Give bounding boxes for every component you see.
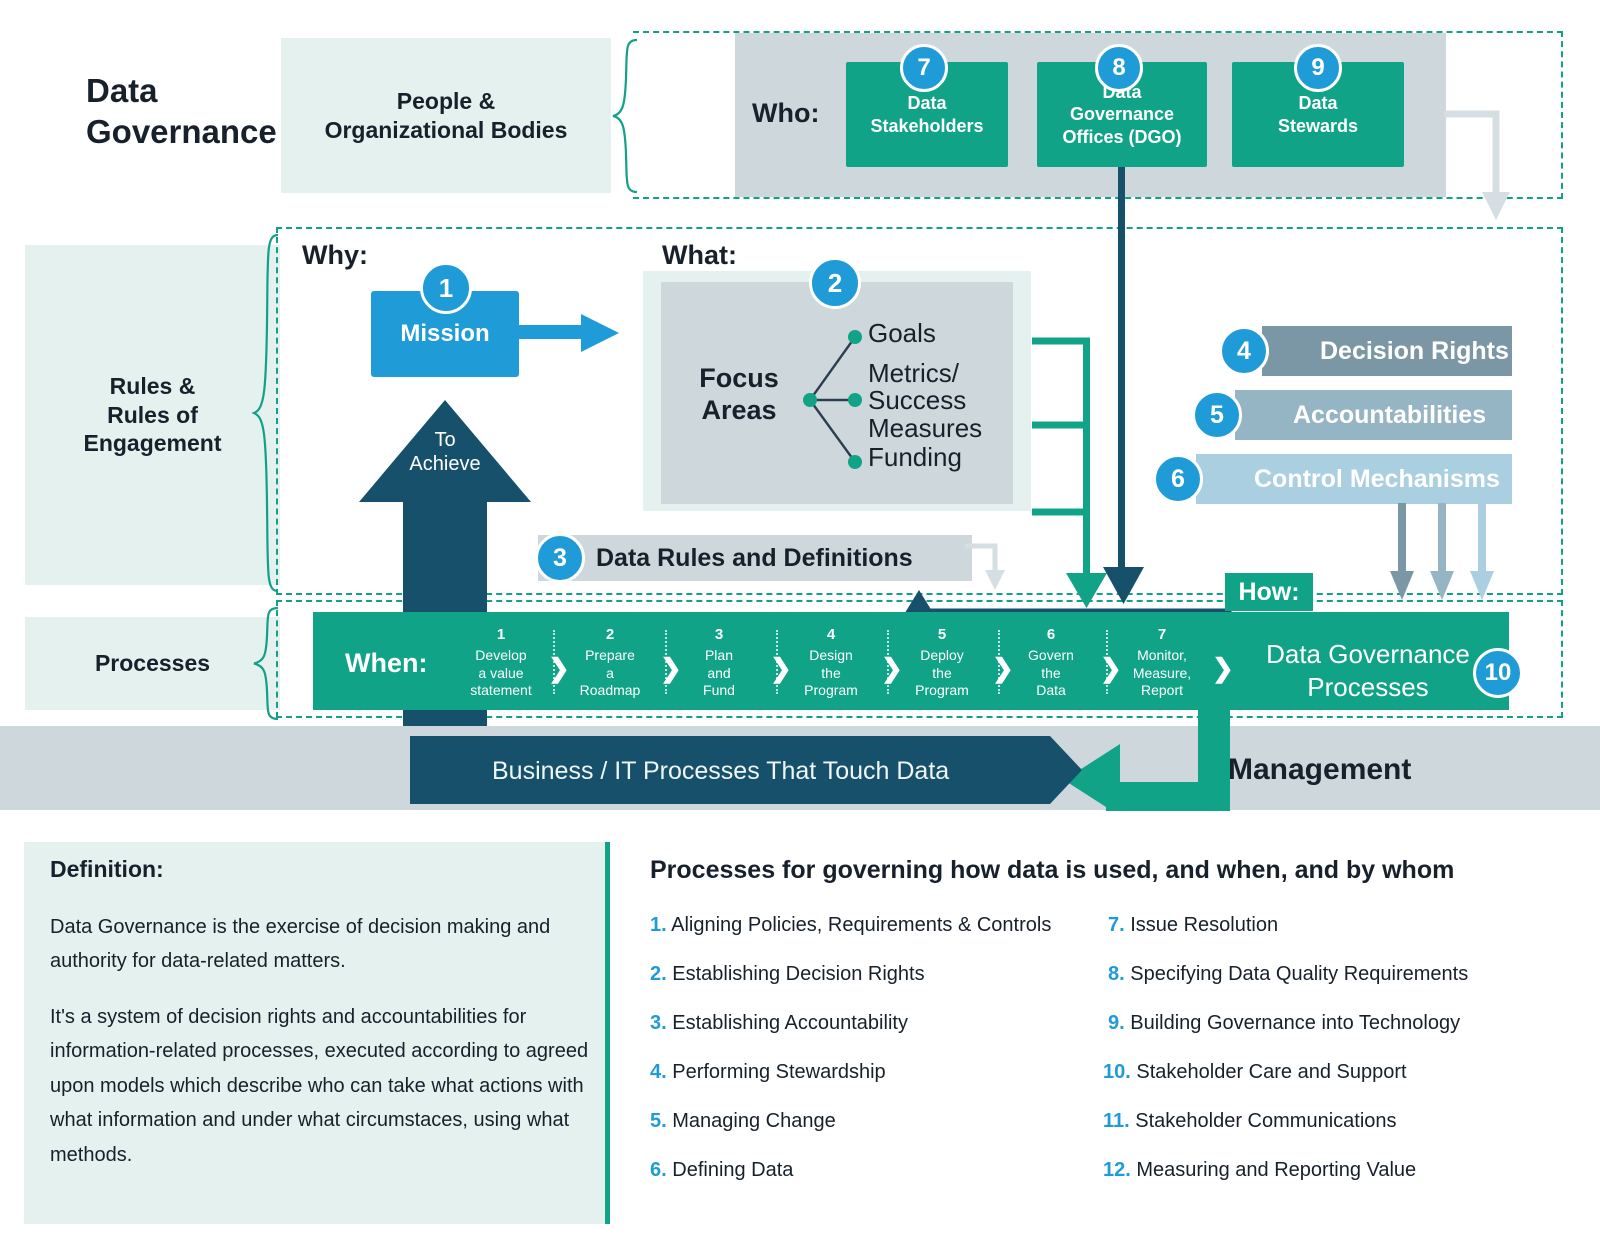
process-item-number: 11.	[1103, 1110, 1130, 1132]
to-achieve-text: To Achieve	[409, 429, 480, 475]
process-item-1: 1. Aligning Policies, Requirements & Con…	[650, 914, 1051, 937]
chevron-1-icon: ❯	[548, 655, 570, 681]
process-item-label: Issue Resolution	[1130, 914, 1278, 936]
when-step-4[interactable]: 4 Design the Program	[790, 632, 872, 694]
process-item-7: 7. Issue Resolution	[1108, 914, 1278, 937]
step-number: 1	[497, 626, 505, 645]
data-rules-label: Data Rules and Definitions	[596, 544, 913, 573]
process-item-6: 6. Defining Data	[650, 1159, 793, 1182]
stacked-bar-control-mechanisms[interactable]: Control Mechanisms	[1196, 454, 1512, 504]
step-separator	[998, 630, 1000, 694]
arrow-dgo-to-processes	[1100, 167, 1148, 607]
when-step-5[interactable]: 5 Deploy the Program	[901, 632, 983, 694]
definition-title-text: Definition:	[50, 856, 164, 882]
process-item-label: Performing Stewardship	[672, 1061, 885, 1083]
step-separator	[665, 630, 667, 694]
definition-title: Definition:	[50, 856, 164, 883]
definition-paragraph-text: It's a system of decision rights and acc…	[50, 1006, 588, 1166]
process-item-number: 7.	[1108, 914, 1125, 936]
step-label: Design the Program	[804, 647, 858, 700]
badge-6: 6	[1153, 454, 1203, 504]
process-item-label: Establishing Accountability	[672, 1012, 908, 1034]
when-step-6[interactable]: 6 Govern the Data	[1013, 632, 1089, 694]
badge-number: 2	[828, 268, 842, 299]
step-separator	[553, 630, 555, 694]
step-label: Deploy the Program	[915, 647, 969, 700]
process-item-number: 12.	[1103, 1159, 1131, 1181]
process-item-12: 12. Measuring and Reporting Value	[1103, 1159, 1416, 1182]
badge-9: 9	[1294, 44, 1342, 92]
process-item-number: 2.	[650, 963, 667, 985]
badge-number: 8	[1112, 54, 1125, 82]
what-label: What:	[662, 240, 737, 271]
step-number: 3	[715, 626, 723, 645]
category-processes-panel: Processes	[25, 617, 280, 710]
management-text: Management	[1228, 753, 1411, 786]
step-label: Plan and Fund	[703, 647, 735, 700]
process-item-10: 10. Stakeholder Care and Support	[1103, 1061, 1407, 1084]
badge-10: 10	[1473, 648, 1523, 698]
badge-4: 4	[1219, 326, 1269, 376]
step-number: 2	[606, 626, 614, 645]
badge-3: 3	[535, 533, 585, 583]
definition-paragraph-1: Data Governance is the exercise of decis…	[50, 910, 590, 979]
process-item-label: Stakeholder Care and Support	[1136, 1061, 1406, 1083]
category-rules-panel: Rules & Rules of Engagement	[25, 245, 280, 585]
category-people-panel: People & Organizational Bodies	[281, 38, 611, 193]
step-label: Prepare a Roadmap	[580, 647, 641, 700]
badge-1: 1	[420, 262, 472, 314]
process-item-label: Stakeholder Communications	[1135, 1110, 1396, 1132]
process-item-4: 4. Performing Stewardship	[650, 1061, 886, 1084]
process-item-label: Aligning Policies, Requirements & Contro…	[671, 914, 1051, 936]
focus-to-processes-connector	[1028, 325, 1108, 610]
badge-number: 9	[1311, 54, 1324, 82]
process-item-11: 11. Stakeholder Communications	[1103, 1110, 1397, 1133]
step-number: 7	[1158, 626, 1166, 645]
focus-item-funding: Funding	[868, 444, 962, 471]
step-number: 5	[938, 626, 946, 645]
process-item-number: 4.	[650, 1061, 667, 1083]
badge-8: 8	[1095, 44, 1143, 92]
chevron-3-icon: ❯	[770, 655, 792, 681]
badge-2: 2	[809, 257, 861, 309]
arrows-stacked-to-processes	[1390, 503, 1520, 603]
page-title-text: Data Governance	[86, 72, 277, 150]
process-item-number: 6.	[650, 1159, 667, 1181]
process-item-label: Defining Data	[672, 1159, 793, 1181]
when-step-2[interactable]: 2 Prepare a Roadmap	[570, 632, 650, 694]
stacked-bar-label: Decision Rights	[1320, 337, 1509, 366]
business-processes-text: Business / IT Processes That Touch Data	[492, 757, 949, 785]
step-number: 6	[1047, 626, 1055, 645]
focus-connector-lines	[800, 325, 870, 475]
badge-number: 10	[1485, 659, 1512, 687]
badge-number: 1	[439, 273, 453, 304]
stacked-bar-decision-rights[interactable]: Decision Rights	[1262, 326, 1512, 376]
management-label: Management	[1228, 753, 1411, 787]
category-people-label: People & Organizational Bodies	[325, 87, 568, 145]
focus-item-goals: Goals	[868, 320, 936, 347]
focus-areas-label: Focus Areas	[679, 362, 799, 427]
why-label-text: Why:	[302, 240, 368, 270]
to-achieve-label: To Achieve	[385, 428, 505, 476]
who-box-label: Data Stakeholders	[870, 92, 983, 137]
focus-item-label: Metrics/ Success Measures	[868, 358, 982, 443]
focus-item-metrics: Metrics/ Success Measures	[868, 360, 982, 442]
process-item-label: Establishing Decision Rights	[672, 963, 924, 985]
badge-number: 6	[1171, 465, 1185, 494]
process-item-9: 9. Building Governance into Technology	[1108, 1012, 1460, 1035]
process-item-3: 3. Establishing Accountability	[650, 1012, 908, 1035]
category-rules-label: Rules & Rules of Engagement	[83, 372, 221, 458]
badge-number: 4	[1237, 337, 1251, 366]
data-rules-bar[interactable]: Data Rules and Definitions	[538, 535, 972, 581]
how-label-text: How:	[1238, 578, 1299, 607]
who-box-label: Data Stewards	[1278, 92, 1358, 137]
badge-5: 5	[1192, 390, 1242, 440]
process-item-8: 8. Specifying Data Quality Requirements	[1108, 963, 1468, 986]
badge-number: 3	[553, 544, 567, 573]
how-label: How:	[1225, 573, 1313, 611]
processes-list-title: Processes for governing how data is used…	[650, 856, 1550, 885]
step-separator	[887, 630, 889, 694]
arrow-rules-small-hook	[962, 542, 1012, 594]
process-item-number: 1.	[650, 914, 667, 936]
when-step-1[interactable]: 1 Develop a value statement	[460, 632, 542, 694]
category-processes-label: Processes	[95, 649, 210, 678]
when-step-7[interactable]: 7 Monitor, Measure, Report	[1118, 632, 1206, 694]
stacked-bar-accountabilities[interactable]: Accountabilities	[1235, 390, 1512, 440]
data-governance-processes-label: Data Governance Processes	[1243, 638, 1493, 703]
process-item-5: 5. Managing Change	[650, 1110, 836, 1133]
process-item-2: 2. Establishing Decision Rights	[650, 963, 925, 986]
dgp-text: Data Governance Processes	[1266, 639, 1470, 702]
step-separator	[776, 630, 778, 694]
focus-areas-text: Focus Areas	[699, 363, 779, 425]
business-processes-label: Business / IT Processes That Touch Data	[492, 757, 949, 786]
badge-number: 7	[917, 54, 930, 82]
processes-list-title-text: Processes for governing how data is used…	[650, 856, 1454, 884]
chevron-4-icon: ❯	[881, 655, 903, 681]
who-label-text: Who:	[752, 98, 819, 128]
badge-number: 5	[1210, 401, 1224, 430]
step-label: Govern the Data	[1028, 647, 1074, 700]
process-item-number: 10.	[1103, 1061, 1131, 1083]
chevron-7-icon: ❯	[1212, 655, 1234, 681]
step-label: Develop a value statement	[470, 647, 531, 700]
process-item-label: Specifying Data Quality Requirements	[1130, 963, 1468, 985]
what-label-text: What:	[662, 240, 737, 270]
chevron-5-icon: ❯	[992, 655, 1014, 681]
when-step-3[interactable]: 3 Plan and Fund	[683, 632, 755, 694]
step-separator	[1106, 630, 1108, 694]
definition-paragraph-text: Data Governance is the exercise of decis…	[50, 916, 550, 972]
badge-7: 7	[900, 44, 948, 92]
focus-item-label: Funding	[868, 442, 962, 472]
mission-label: Mission	[400, 320, 489, 348]
who-label: Who:	[752, 98, 819, 129]
arrow-mission-to-focus	[519, 312, 623, 354]
step-label: Monitor, Measure, Report	[1133, 647, 1191, 700]
arrow-who-to-rules	[1440, 108, 1520, 228]
when-label: When:	[345, 648, 427, 679]
definition-paragraph-2: It's a system of decision rights and acc…	[50, 1000, 595, 1172]
stacked-bar-label: Control Mechanisms	[1254, 465, 1500, 494]
chevron-2-icon: ❯	[660, 655, 682, 681]
process-item-label: Measuring and Reporting Value	[1136, 1159, 1416, 1181]
why-label: Why:	[302, 240, 368, 271]
process-item-label: Managing Change	[672, 1110, 835, 1132]
process-item-number: 3.	[650, 1012, 667, 1034]
process-item-number: 9.	[1108, 1012, 1125, 1034]
process-item-number: 8.	[1108, 963, 1125, 985]
when-label-text: When:	[345, 648, 427, 678]
process-item-number: 5.	[650, 1110, 667, 1132]
process-item-label: Building Governance into Technology	[1130, 1012, 1460, 1034]
stacked-bar-label: Accountabilities	[1293, 401, 1486, 430]
focus-item-label: Goals	[868, 318, 936, 348]
step-number: 4	[827, 626, 835, 645]
